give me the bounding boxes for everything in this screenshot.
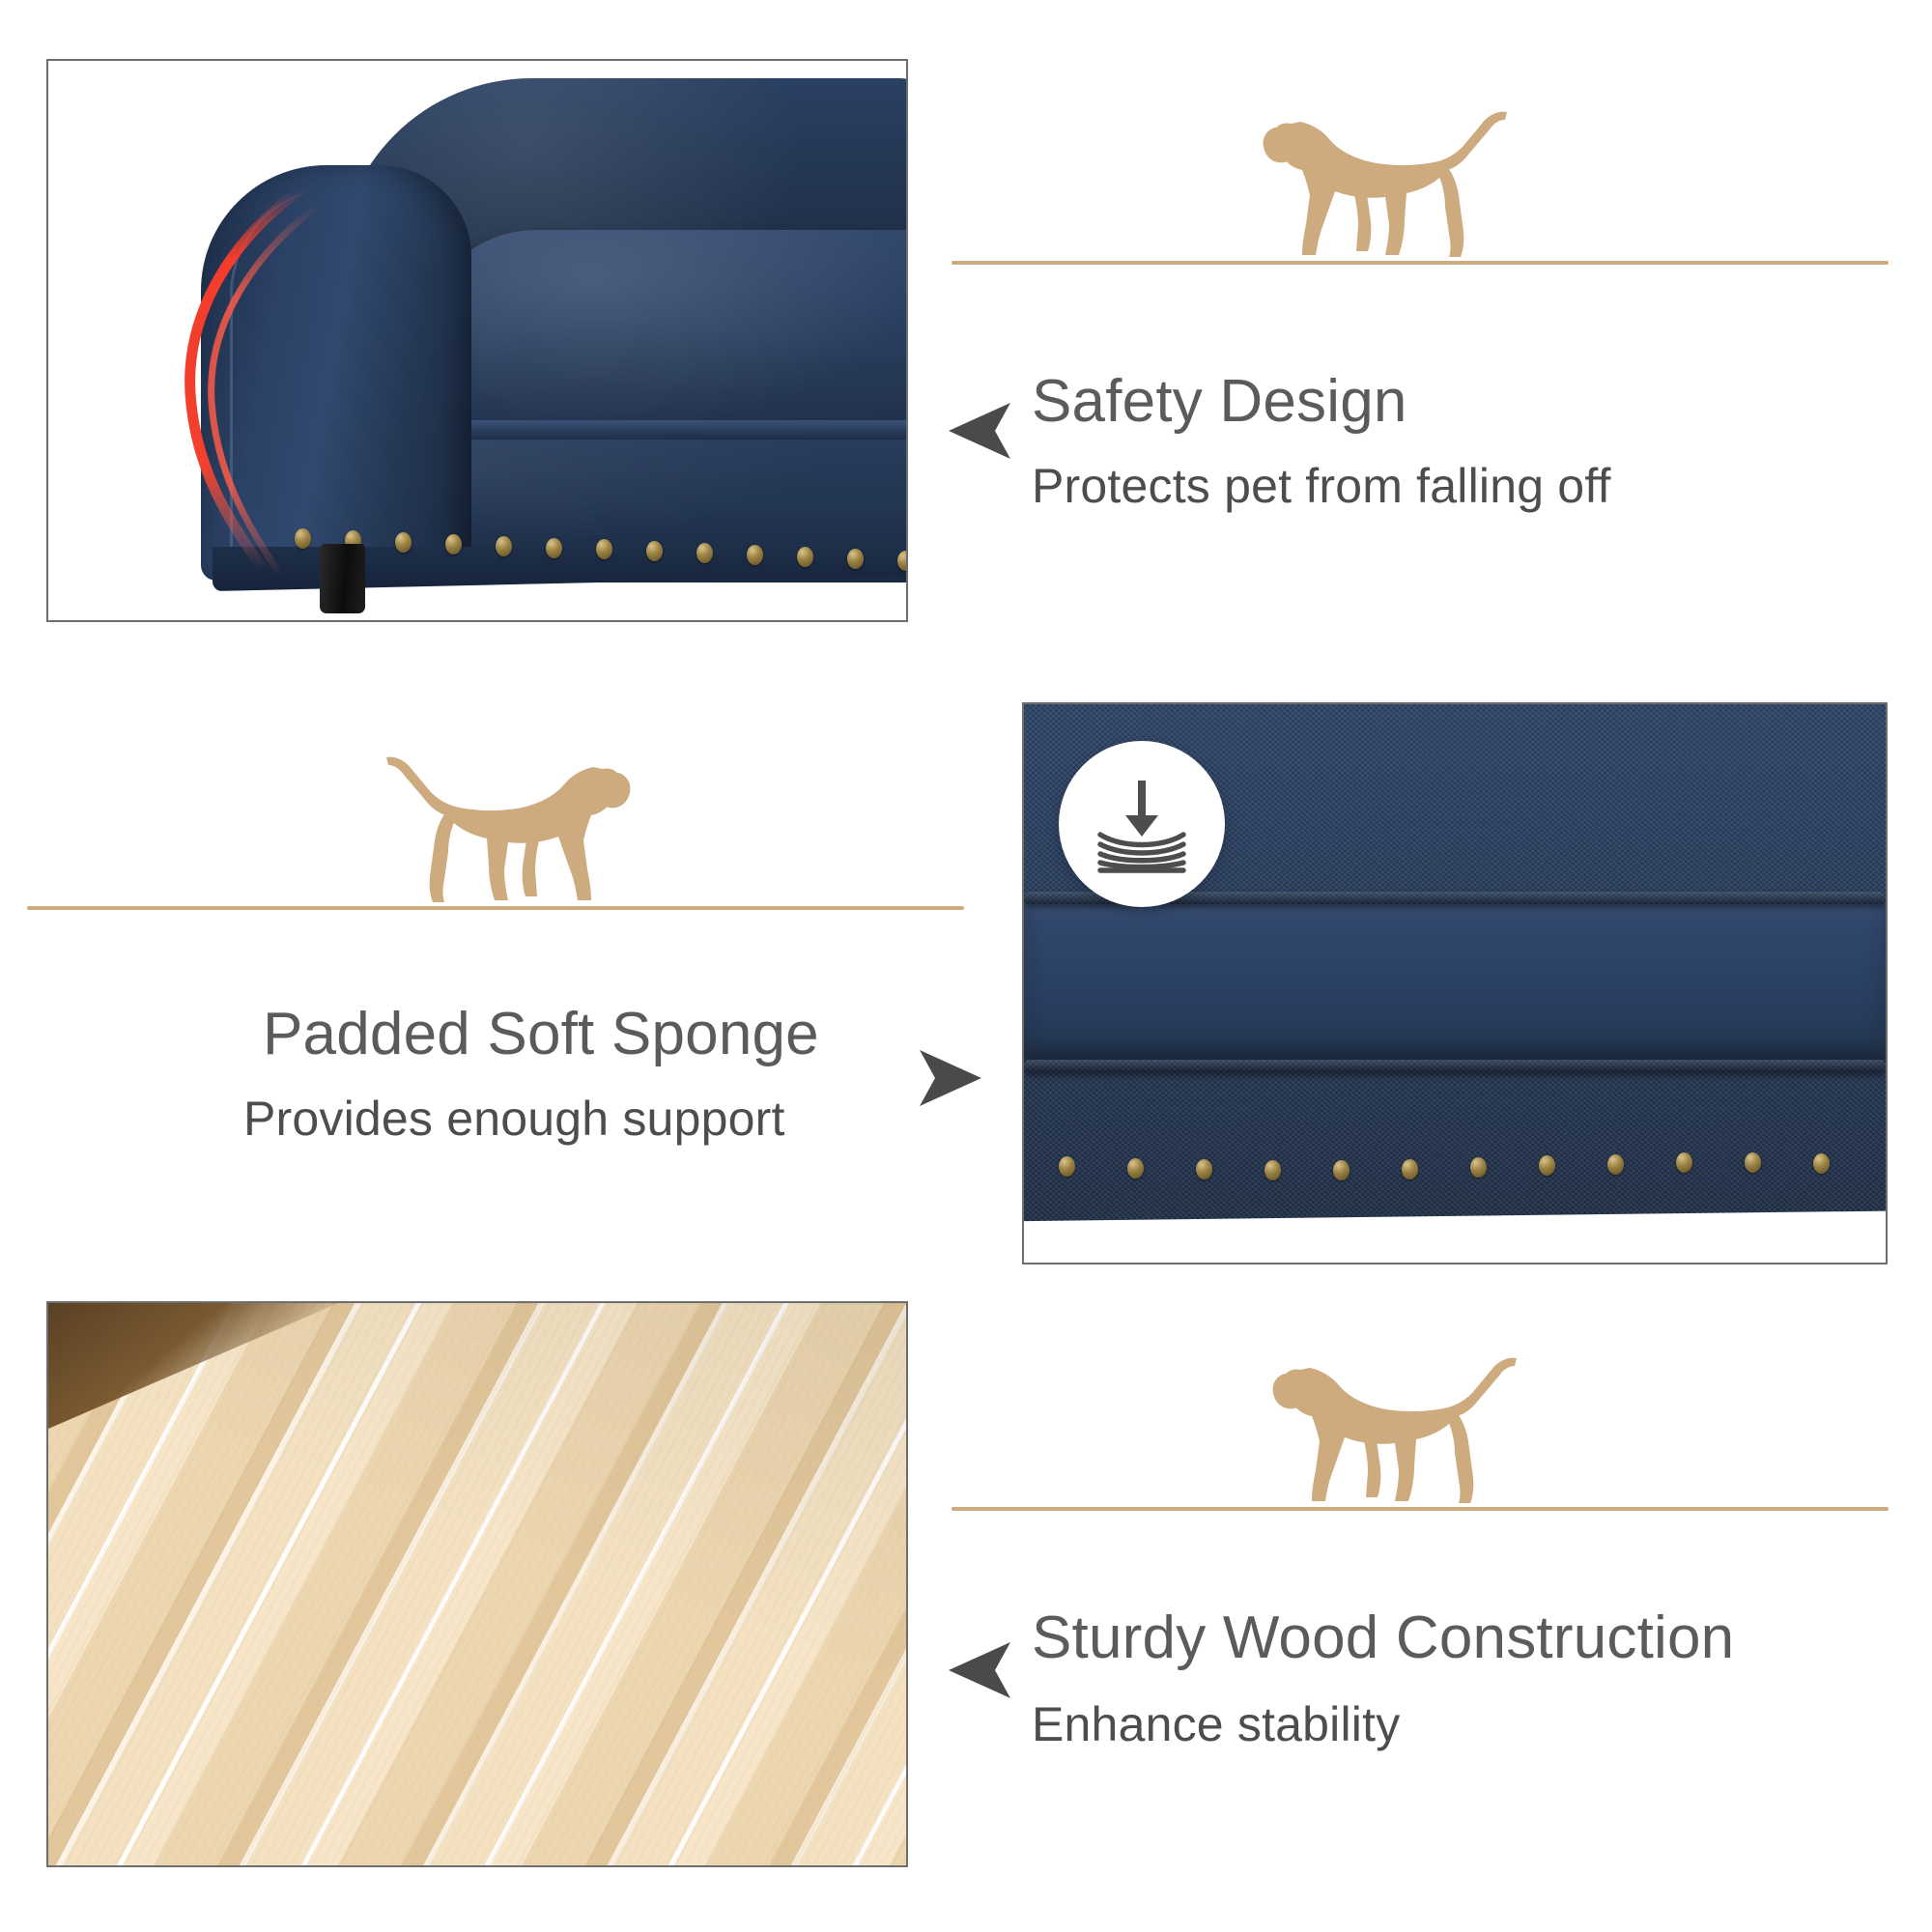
nailhead-stud <box>797 547 813 567</box>
nailhead-stud <box>1196 1159 1212 1179</box>
nailhead-stud <box>646 541 663 561</box>
infographic-canvas: Safety Design Protects pet from falling … <box>0 0 1932 1932</box>
nailhead-stud <box>445 534 462 554</box>
nailhead-stud <box>847 549 864 569</box>
nailhead-stud <box>596 539 612 559</box>
nailhead-stud <box>696 543 713 563</box>
divider-line <box>952 1507 1889 1511</box>
nailhead-stud <box>1470 1157 1487 1178</box>
nailhead-stud <box>1059 1156 1075 1177</box>
sofa-seat-cushion <box>420 230 908 452</box>
nailhead-stud <box>496 536 512 556</box>
arrow-left-icon <box>947 401 1014 461</box>
nailhead-stud <box>897 551 908 571</box>
cushion-compression-icon <box>1059 741 1225 907</box>
feature-headline: Sturdy Wood Construction <box>1032 1608 1734 1668</box>
sofa-photo-stage <box>48 61 906 620</box>
arrow-left-icon <box>947 1640 1014 1700</box>
nailhead-stud <box>1607 1154 1624 1175</box>
safety-curve-highlight <box>110 177 342 582</box>
nailhead-stud <box>747 545 763 565</box>
feature-subline: Provides enough support <box>243 1094 785 1143</box>
arrow-right-icon <box>916 1048 983 1108</box>
feature-subline: Enhance stability <box>1032 1700 1400 1748</box>
nailhead-stud <box>1676 1152 1692 1173</box>
cushion-seam-bottom <box>1024 1060 1886 1072</box>
nailhead-stud <box>546 538 562 558</box>
nailhead-stud <box>1813 1153 1830 1174</box>
dog-silhouette-icon <box>1246 79 1536 263</box>
feature-headline: Safety Design <box>1032 372 1407 432</box>
divider-line <box>27 906 964 910</box>
nailhead-trim <box>295 528 908 567</box>
cushion-closeup-photo <box>1022 702 1888 1264</box>
nailhead-stud <box>1539 1155 1555 1176</box>
nailhead-trim <box>1041 1151 1874 1185</box>
wood-lighting-overlay <box>48 1303 906 1865</box>
cushion-middle-band <box>1024 904 1886 1060</box>
nailhead-stud <box>395 532 412 553</box>
nailhead-stud <box>1127 1158 1144 1179</box>
sofa-cushion-welt <box>427 420 908 440</box>
divider-line <box>952 261 1889 265</box>
dog-silhouette-icon <box>1256 1325 1546 1509</box>
feature-headline: Padded Soft Sponge <box>263 1005 819 1065</box>
pine-wood-slats-photo <box>46 1301 908 1867</box>
compression-arrow-icon <box>1085 767 1199 881</box>
nailhead-stud <box>1402 1159 1418 1179</box>
navy-sofa-rolled-arm-photo <box>46 59 908 622</box>
dog-silhouette-icon <box>357 724 647 908</box>
nailhead-stud <box>1745 1152 1761 1173</box>
nailhead-stud <box>1264 1160 1281 1180</box>
feature-subline: Protects pet from falling off <box>1032 462 1611 510</box>
nailhead-stud <box>1333 1160 1350 1180</box>
